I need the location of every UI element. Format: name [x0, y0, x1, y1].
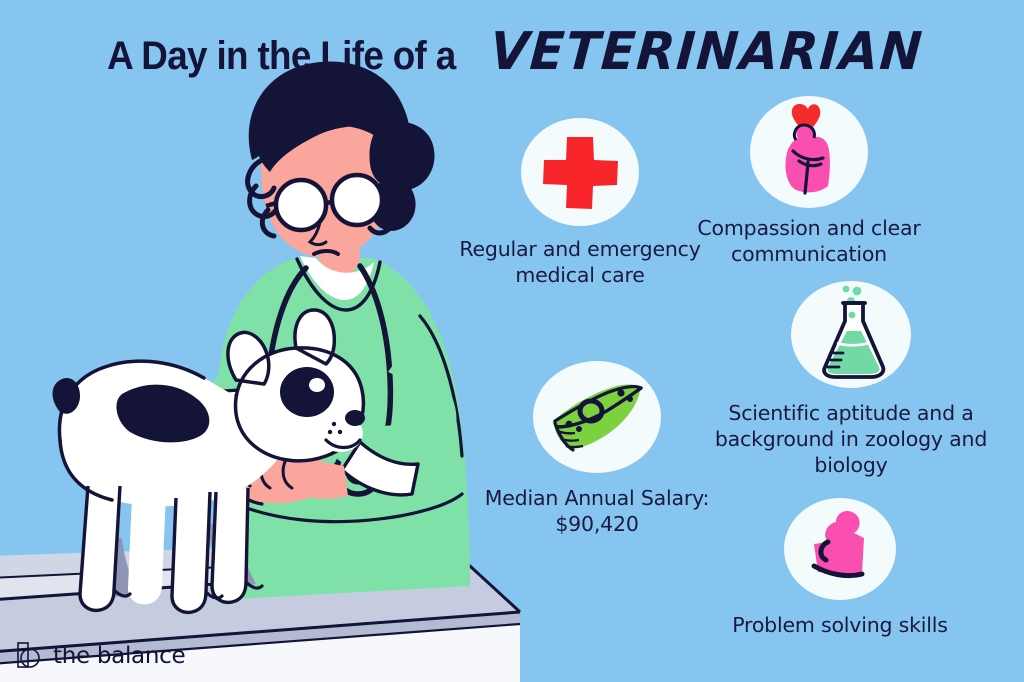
- page-title-accent: VETERINARIAN: [488, 22, 925, 82]
- fact-item-compassion: Compassion and clear communication: [650, 96, 968, 267]
- brand-name: the balance: [53, 643, 185, 669]
- infographic-canvas: A Day in the Life of aVETERINARIAN Regul…: [0, 0, 1024, 682]
- the-balance-monogram-icon: [14, 641, 44, 671]
- fact-item-salary: Median Annual Salary: $90,420: [470, 361, 724, 537]
- fact-label-problem: Problem solving skills: [690, 612, 990, 638]
- fact-item-science: Scientific aptitude and a background in …: [692, 281, 1010, 479]
- fact-item-problem: Problem solving skills: [690, 498, 990, 638]
- bubble-icon: [843, 286, 850, 293]
- puzzle-piece-icon-badge: [784, 498, 896, 600]
- fact-label-compassion: Compassion and clear communication: [650, 215, 968, 267]
- fact-label-salary: Median Annual Salary: $90,420: [470, 485, 724, 537]
- lab-flask-icon-badge: [791, 281, 911, 388]
- brand-logo[interactable]: the balance: [14, 641, 185, 671]
- page-title: A Day in the Life of aVETERINARIAN: [0, 22, 1024, 82]
- money-bill-icon-badge: [533, 361, 661, 473]
- dog-eye-patch: [280, 367, 334, 417]
- bubble-icon: [853, 287, 862, 296]
- fact-label-science: Scientific aptitude and a background in …: [692, 400, 1010, 479]
- dog-nose: [345, 410, 365, 426]
- page-title-lead: A Day in the Life of a: [107, 34, 455, 79]
- red-cross-icon-badge: [521, 118, 639, 226]
- veterinarian-figure: [214, 61, 470, 600]
- hugging-people-heart-icon-badge: [750, 96, 868, 208]
